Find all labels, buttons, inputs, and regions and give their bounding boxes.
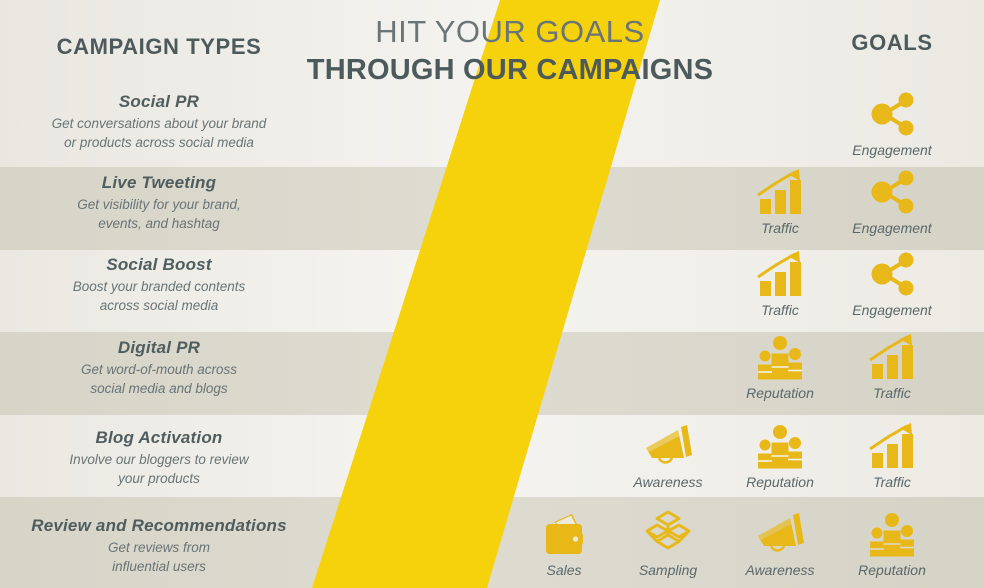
goal-label: Traffic: [836, 474, 948, 490]
goal-label: Sales: [508, 562, 620, 578]
campaign-name: Review and Recommendations: [0, 516, 318, 536]
people-group-icon: [724, 331, 836, 381]
share-nodes-icon: [836, 248, 948, 298]
campaign-description-line: events, and hashtag: [0, 215, 318, 234]
goal-label: Sampling: [612, 562, 724, 578]
campaign-cell-social-boost[interactable]: Social Boost Boost your branded contents…: [0, 255, 318, 315]
campaign-name: Digital PR: [0, 338, 318, 358]
goal-label: Engagement: [836, 302, 948, 318]
campaign-description-line: influential users: [0, 558, 318, 577]
campaign-description: Boost your branded contents across socia…: [0, 278, 318, 315]
campaign-description-line: your products: [0, 470, 318, 489]
goal-label: Traffic: [836, 385, 948, 401]
growth-bars-icon: [724, 166, 836, 216]
wallet-icon: [508, 508, 620, 558]
goal-cell-awareness[interactable]: Awareness: [612, 420, 724, 490]
campaign-cell-digital-pr[interactable]: Digital PR Get word-of-mouth across soci…: [0, 338, 318, 398]
campaign-description: Get conversations about your brand or pr…: [0, 115, 318, 152]
goal-cell-awareness[interactable]: Awareness: [724, 508, 836, 578]
goal-cell-traffic[interactable]: Traffic: [724, 166, 836, 236]
goal-cell-traffic[interactable]: Traffic: [724, 248, 836, 318]
campaign-description-line: Get conversations about your brand: [0, 115, 318, 134]
campaign-cell-live-tweeting[interactable]: Live Tweeting Get visibility for your br…: [0, 173, 318, 233]
goal-cell-sampling[interactable]: Sampling: [612, 508, 724, 578]
campaign-name: Social Boost: [0, 255, 318, 275]
goal-cell-engagement[interactable]: Engagement: [836, 88, 948, 158]
campaign-name: Live Tweeting: [0, 173, 318, 193]
goal-cell-reputation[interactable]: Reputation: [724, 420, 836, 490]
goal-label: Engagement: [836, 142, 948, 158]
goal-label: Awareness: [724, 562, 836, 578]
campaign-description: Involve our bloggers to review your prod…: [0, 451, 318, 488]
growth-bars-icon: [724, 248, 836, 298]
megaphone-icon: [724, 508, 836, 558]
goal-label: Awareness: [612, 474, 724, 490]
goal-label: Traffic: [724, 220, 836, 236]
goal-cell-traffic[interactable]: Traffic: [836, 420, 948, 490]
campaign-description: Get visibility for your brand, events, a…: [0, 196, 318, 233]
people-group-icon: [724, 420, 836, 470]
campaign-description-line: Involve our bloggers to review: [0, 451, 318, 470]
title-line-1: HIT YOUR GOALS: [240, 16, 780, 49]
goal-cell-reputation[interactable]: Reputation: [836, 508, 948, 578]
campaign-description-line: social media and blogs: [0, 380, 318, 399]
goal-label: Reputation: [724, 474, 836, 490]
campaign-name: Social PR: [0, 92, 318, 112]
main-title: HIT YOUR GOALS THROUGH OUR CAMPAIGNS: [240, 16, 780, 85]
share-nodes-icon: [836, 88, 948, 138]
open-box-icon: [612, 508, 724, 558]
campaign-description-line: across social media: [0, 297, 318, 316]
campaign-cell-blog-activation[interactable]: Blog Activation Involve our bloggers to …: [0, 428, 318, 488]
megaphone-icon: [612, 420, 724, 470]
infographic-canvas: CAMPAIGN TYPES GOALS HIT YOUR GOALS THRO…: [0, 0, 984, 588]
campaign-cell-social-pr[interactable]: Social PR Get conversations about your b…: [0, 92, 318, 152]
campaign-description: Get word-of-mouth across social media an…: [0, 361, 318, 398]
campaign-description-line: Get word-of-mouth across: [0, 361, 318, 380]
title-line-2: THROUGH OUR CAMPAIGNS: [240, 55, 780, 85]
goal-cell-traffic[interactable]: Traffic: [836, 331, 948, 401]
campaign-description-line: or products across social media: [0, 134, 318, 153]
goal-cell-sales[interactable]: Sales: [508, 508, 620, 578]
goal-label: Reputation: [836, 562, 948, 578]
campaign-name: Blog Activation: [0, 428, 318, 448]
goal-cell-engagement[interactable]: Engagement: [836, 166, 948, 236]
goal-cell-reputation[interactable]: Reputation: [724, 331, 836, 401]
goal-label: Engagement: [836, 220, 948, 236]
campaign-cell-review-and-recommendations[interactable]: Review and Recommendations Get reviews f…: [0, 516, 318, 576]
campaign-description-line: Boost your branded contents: [0, 278, 318, 297]
growth-bars-icon: [836, 331, 948, 381]
campaign-description: Get reviews from influential users: [0, 539, 318, 576]
people-group-icon: [836, 508, 948, 558]
campaign-description-line: Get visibility for your brand,: [0, 196, 318, 215]
growth-bars-icon: [836, 420, 948, 470]
campaign-description-line: Get reviews from: [0, 539, 318, 558]
goal-cell-engagement[interactable]: Engagement: [836, 248, 948, 318]
goal-label: Reputation: [724, 385, 836, 401]
goal-label: Traffic: [724, 302, 836, 318]
share-nodes-icon: [836, 166, 948, 216]
column-header-goals: GOALS: [812, 30, 972, 56]
